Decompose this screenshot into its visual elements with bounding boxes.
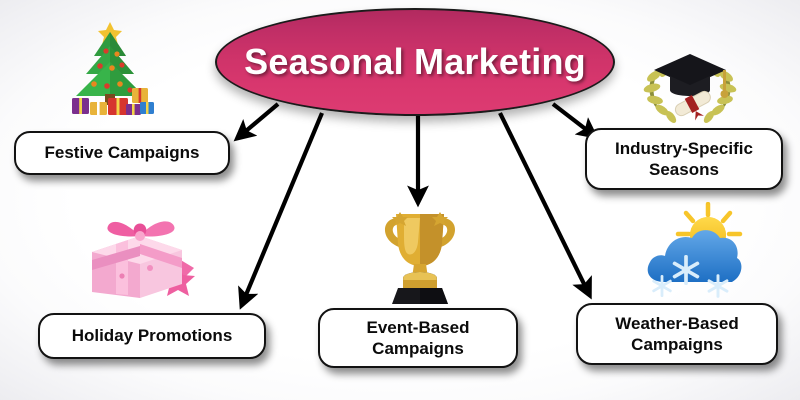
node-event-based-campaigns[interactable]: Event-Based Campaigns xyxy=(318,308,518,368)
node-festive-campaigns[interactable]: Festive Campaigns xyxy=(14,131,230,175)
central-node-label: Seasonal Marketing xyxy=(244,44,586,80)
diagram-canvas: Seasonal Marketing xyxy=(0,0,800,400)
line-1: Event-Based xyxy=(367,318,470,337)
central-node[interactable]: Seasonal Marketing xyxy=(215,8,615,116)
graduation-cap-laurel-icon xyxy=(640,38,740,126)
node-holiday-promotions-label: Holiday Promotions xyxy=(64,325,241,346)
node-weather-based-campaigns[interactable]: Weather-Based Campaigns xyxy=(576,303,778,365)
line-2: Seasons xyxy=(649,160,719,179)
connector-to-holiday xyxy=(243,113,322,302)
node-festive-campaigns-label: Festive Campaigns xyxy=(37,142,208,163)
node-industry-specific-seasons[interactable]: Industry-Specific Seasons xyxy=(585,128,783,190)
line-1: Industry-Specific xyxy=(615,139,753,158)
line-1: Weather-Based xyxy=(615,314,738,333)
connector-to-festive xyxy=(240,104,278,136)
trophy-icon xyxy=(372,196,468,308)
sun-cloud-snow-icon xyxy=(640,202,750,302)
node-industry-specific-seasons-label: Industry-Specific Seasons xyxy=(607,138,761,181)
connector-to-weather xyxy=(500,113,588,292)
pink-gift-box-icon xyxy=(78,206,198,310)
christmas-tree-icon xyxy=(62,16,158,120)
node-weather-based-campaigns-label: Weather-Based Campaigns xyxy=(607,313,746,356)
node-holiday-promotions[interactable]: Holiday Promotions xyxy=(38,313,266,359)
line-2: Campaigns xyxy=(631,335,723,354)
connector-to-industry xyxy=(553,104,592,134)
line-2: Campaigns xyxy=(372,339,464,358)
node-event-based-campaigns-label: Event-Based Campaigns xyxy=(359,317,478,360)
